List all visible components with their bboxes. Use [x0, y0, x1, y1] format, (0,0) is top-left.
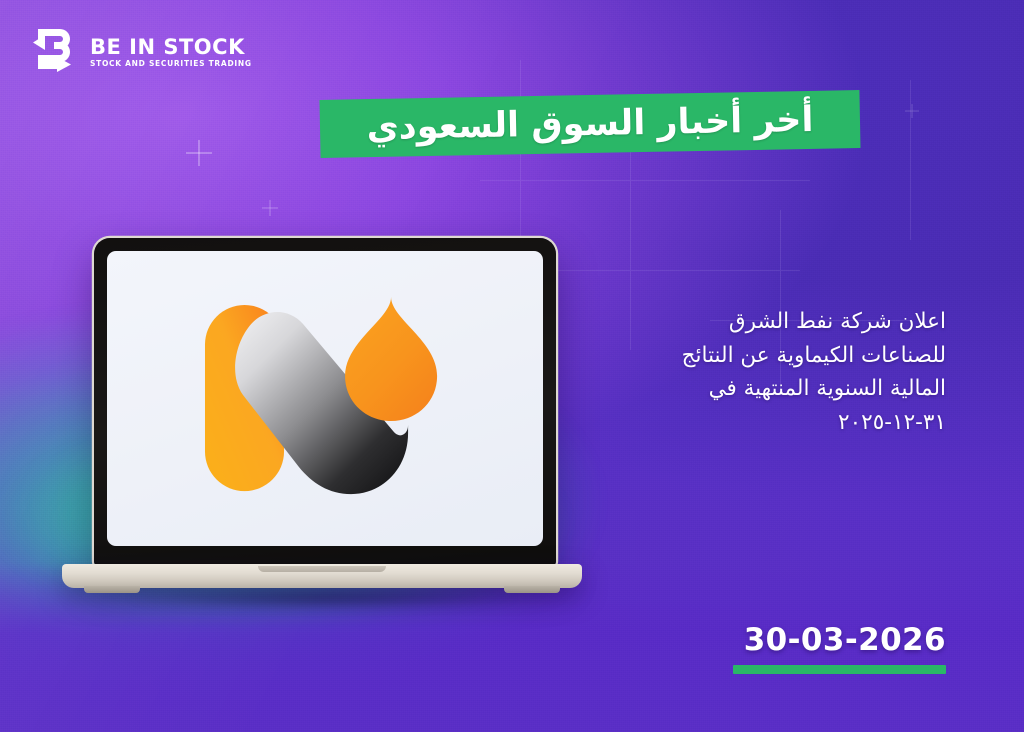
publish-date-block: 30-03-2026 [733, 625, 946, 674]
laptop-mockup [62, 238, 582, 598]
laptop-lid [94, 238, 556, 568]
noor-oil-n-droplet-logo-icon [155, 283, 495, 513]
brand-logo[interactable]: BE IN STOCK STOCK AND SECURITIES TRADING [30, 26, 252, 76]
publish-date: 30-03-2026 [744, 625, 946, 656]
brand-tagline: STOCK AND SECURITIES TRADING [90, 60, 252, 68]
laptop-foot-left [84, 586, 140, 593]
news-line: اعلان شركة نفط الشرق [646, 305, 946, 339]
news-line: للصناعات الكيماوية عن النتائج [646, 339, 946, 373]
publish-date-underline [733, 665, 946, 674]
be-in-stock-arrows-logo-icon [30, 26, 78, 76]
laptop-shadow [56, 590, 588, 616]
news-line: المالية السنوية المنتهية في [646, 372, 946, 406]
headline-title: أخر أخبار السوق السعودي [320, 90, 861, 158]
brand-wordmark: BE IN STOCK STOCK AND SECURITIES TRADING [90, 35, 252, 68]
laptop-base [62, 564, 582, 588]
news-body-text: اعلان شركة نفط الشرق للصناعات الكيماوية … [646, 305, 946, 439]
brand-title: BE IN STOCK [90, 37, 252, 58]
news-card: BE IN STOCK STOCK AND SECURITIES TRADING… [0, 0, 1024, 732]
news-line-date-arabic: ٣١-١٢-٢٠٢٥ [646, 406, 946, 440]
laptop-screen [107, 251, 543, 546]
laptop-foot-right [504, 586, 560, 593]
